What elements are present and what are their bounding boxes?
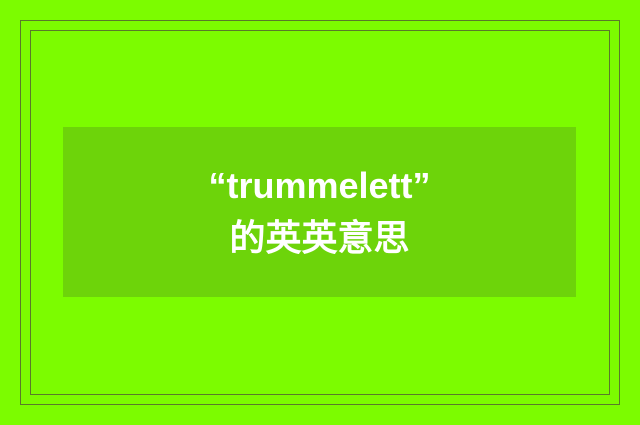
poster-canvas: “trummelett”的英英意思 xyxy=(0,0,640,425)
title-banner: “trummelett”的英英意思 xyxy=(63,127,576,297)
page-title: “trummelett”的英英意思 xyxy=(195,160,445,264)
